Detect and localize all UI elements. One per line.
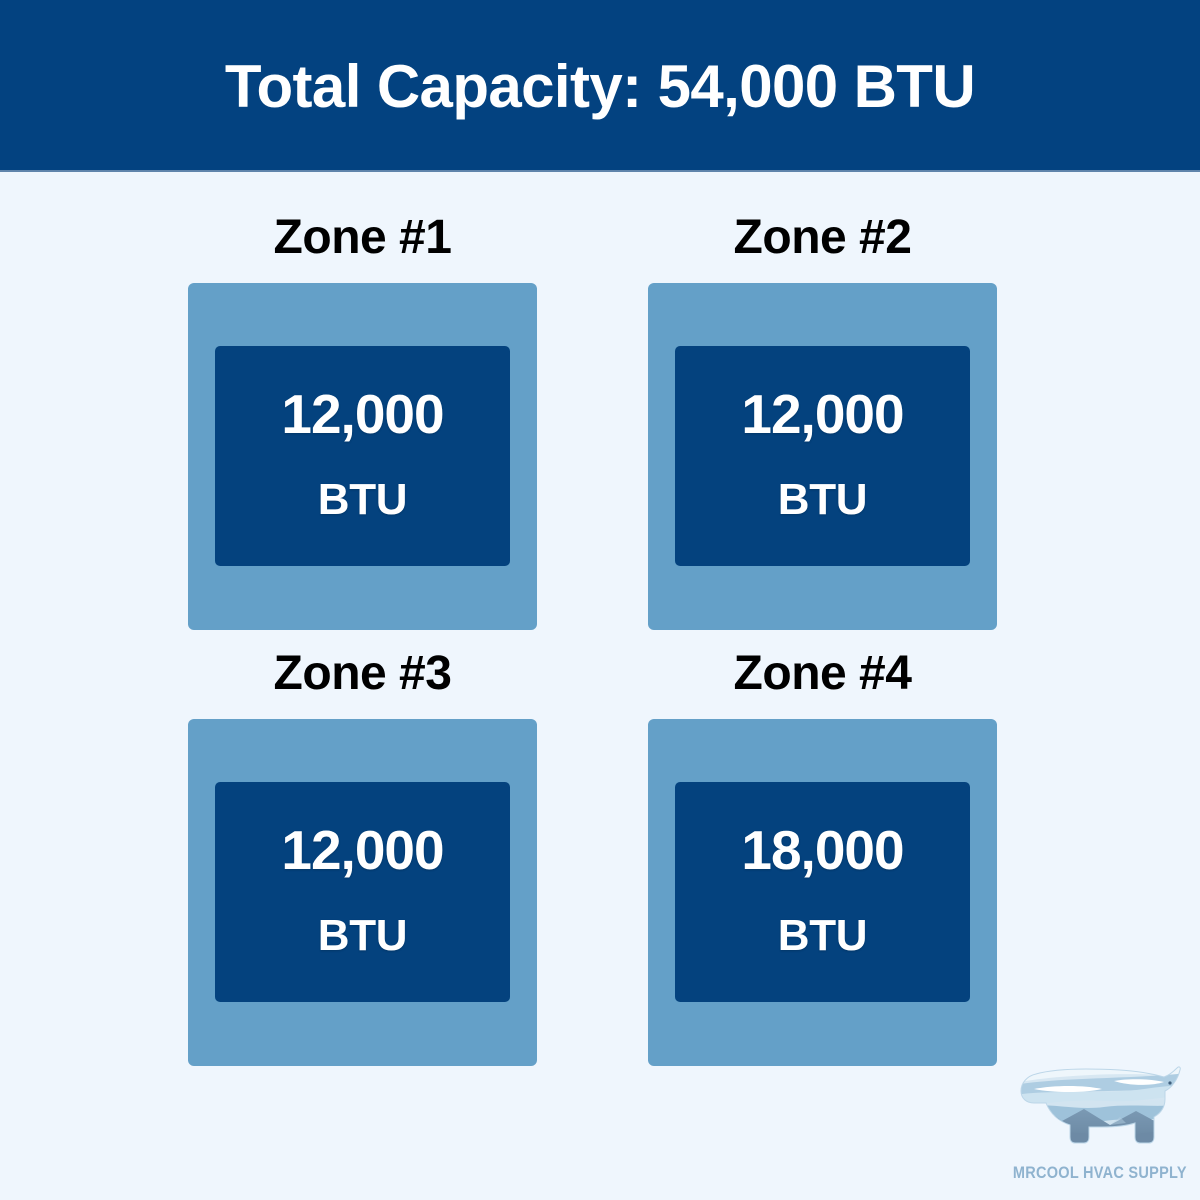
zone-capacity-box-1: 12,000 BTU [215, 346, 510, 566]
zones-grid: Zone #1 12,000 BTU Zone #2 12,000 BTU Zo… [0, 172, 1200, 1200]
zone-row-top: Zone #1 12,000 BTU Zone #2 12,000 BTU [188, 210, 997, 630]
zone-label-2: Zone #2 [734, 210, 912, 266]
zone-value-1: 12,000 [281, 387, 443, 442]
zone-card-1[interactable]: 12,000 BTU [188, 283, 537, 630]
zone-label-4: Zone #4 [734, 646, 912, 702]
zone-card-2[interactable]: 12,000 BTU [648, 283, 997, 630]
zone-cell-3[interactable]: Zone #3 12,000 BTU [188, 646, 537, 1066]
zone-label-3: Zone #3 [274, 646, 452, 702]
zone-cell-2[interactable]: Zone #2 12,000 BTU [648, 210, 997, 630]
zone-value-2: 12,000 [741, 387, 903, 442]
zone-cell-1[interactable]: Zone #1 12,000 BTU [188, 210, 537, 630]
logo-wordmark: MRCOOL HVAC SUPPLY [1013, 1164, 1187, 1183]
zone-value-4: 18,000 [741, 823, 903, 878]
zone-row-bottom: Zone #3 12,000 BTU Zone #4 18,000 BTU [188, 646, 997, 1066]
zone-label-1: Zone #1 [274, 210, 452, 266]
zone-unit-3: BTU [318, 914, 408, 958]
zone-unit-4: BTU [778, 914, 868, 958]
zone-capacity-box-3: 12,000 BTU [215, 782, 510, 1002]
zone-capacity-box-2: 12,000 BTU [675, 346, 970, 566]
header-bar: Total Capacity: 54,000 BTU [0, 0, 1200, 172]
page-title: Total Capacity: 54,000 BTU [225, 57, 975, 117]
zone-value-3: 12,000 [281, 823, 443, 878]
zone-card-3[interactable]: 12,000 BTU [188, 719, 537, 1066]
zone-unit-2: BTU [778, 478, 868, 522]
zone-cell-4[interactable]: Zone #4 18,000 BTU [648, 646, 997, 1066]
polar-bear-icon [1014, 1055, 1186, 1163]
brand-logo: MRCOOL HVAC SUPPLY [1010, 1055, 1190, 1195]
zone-capacity-box-4: 18,000 BTU [675, 782, 970, 1002]
zone-unit-1: BTU [318, 478, 408, 522]
zone-card-4[interactable]: 18,000 BTU [648, 719, 997, 1066]
